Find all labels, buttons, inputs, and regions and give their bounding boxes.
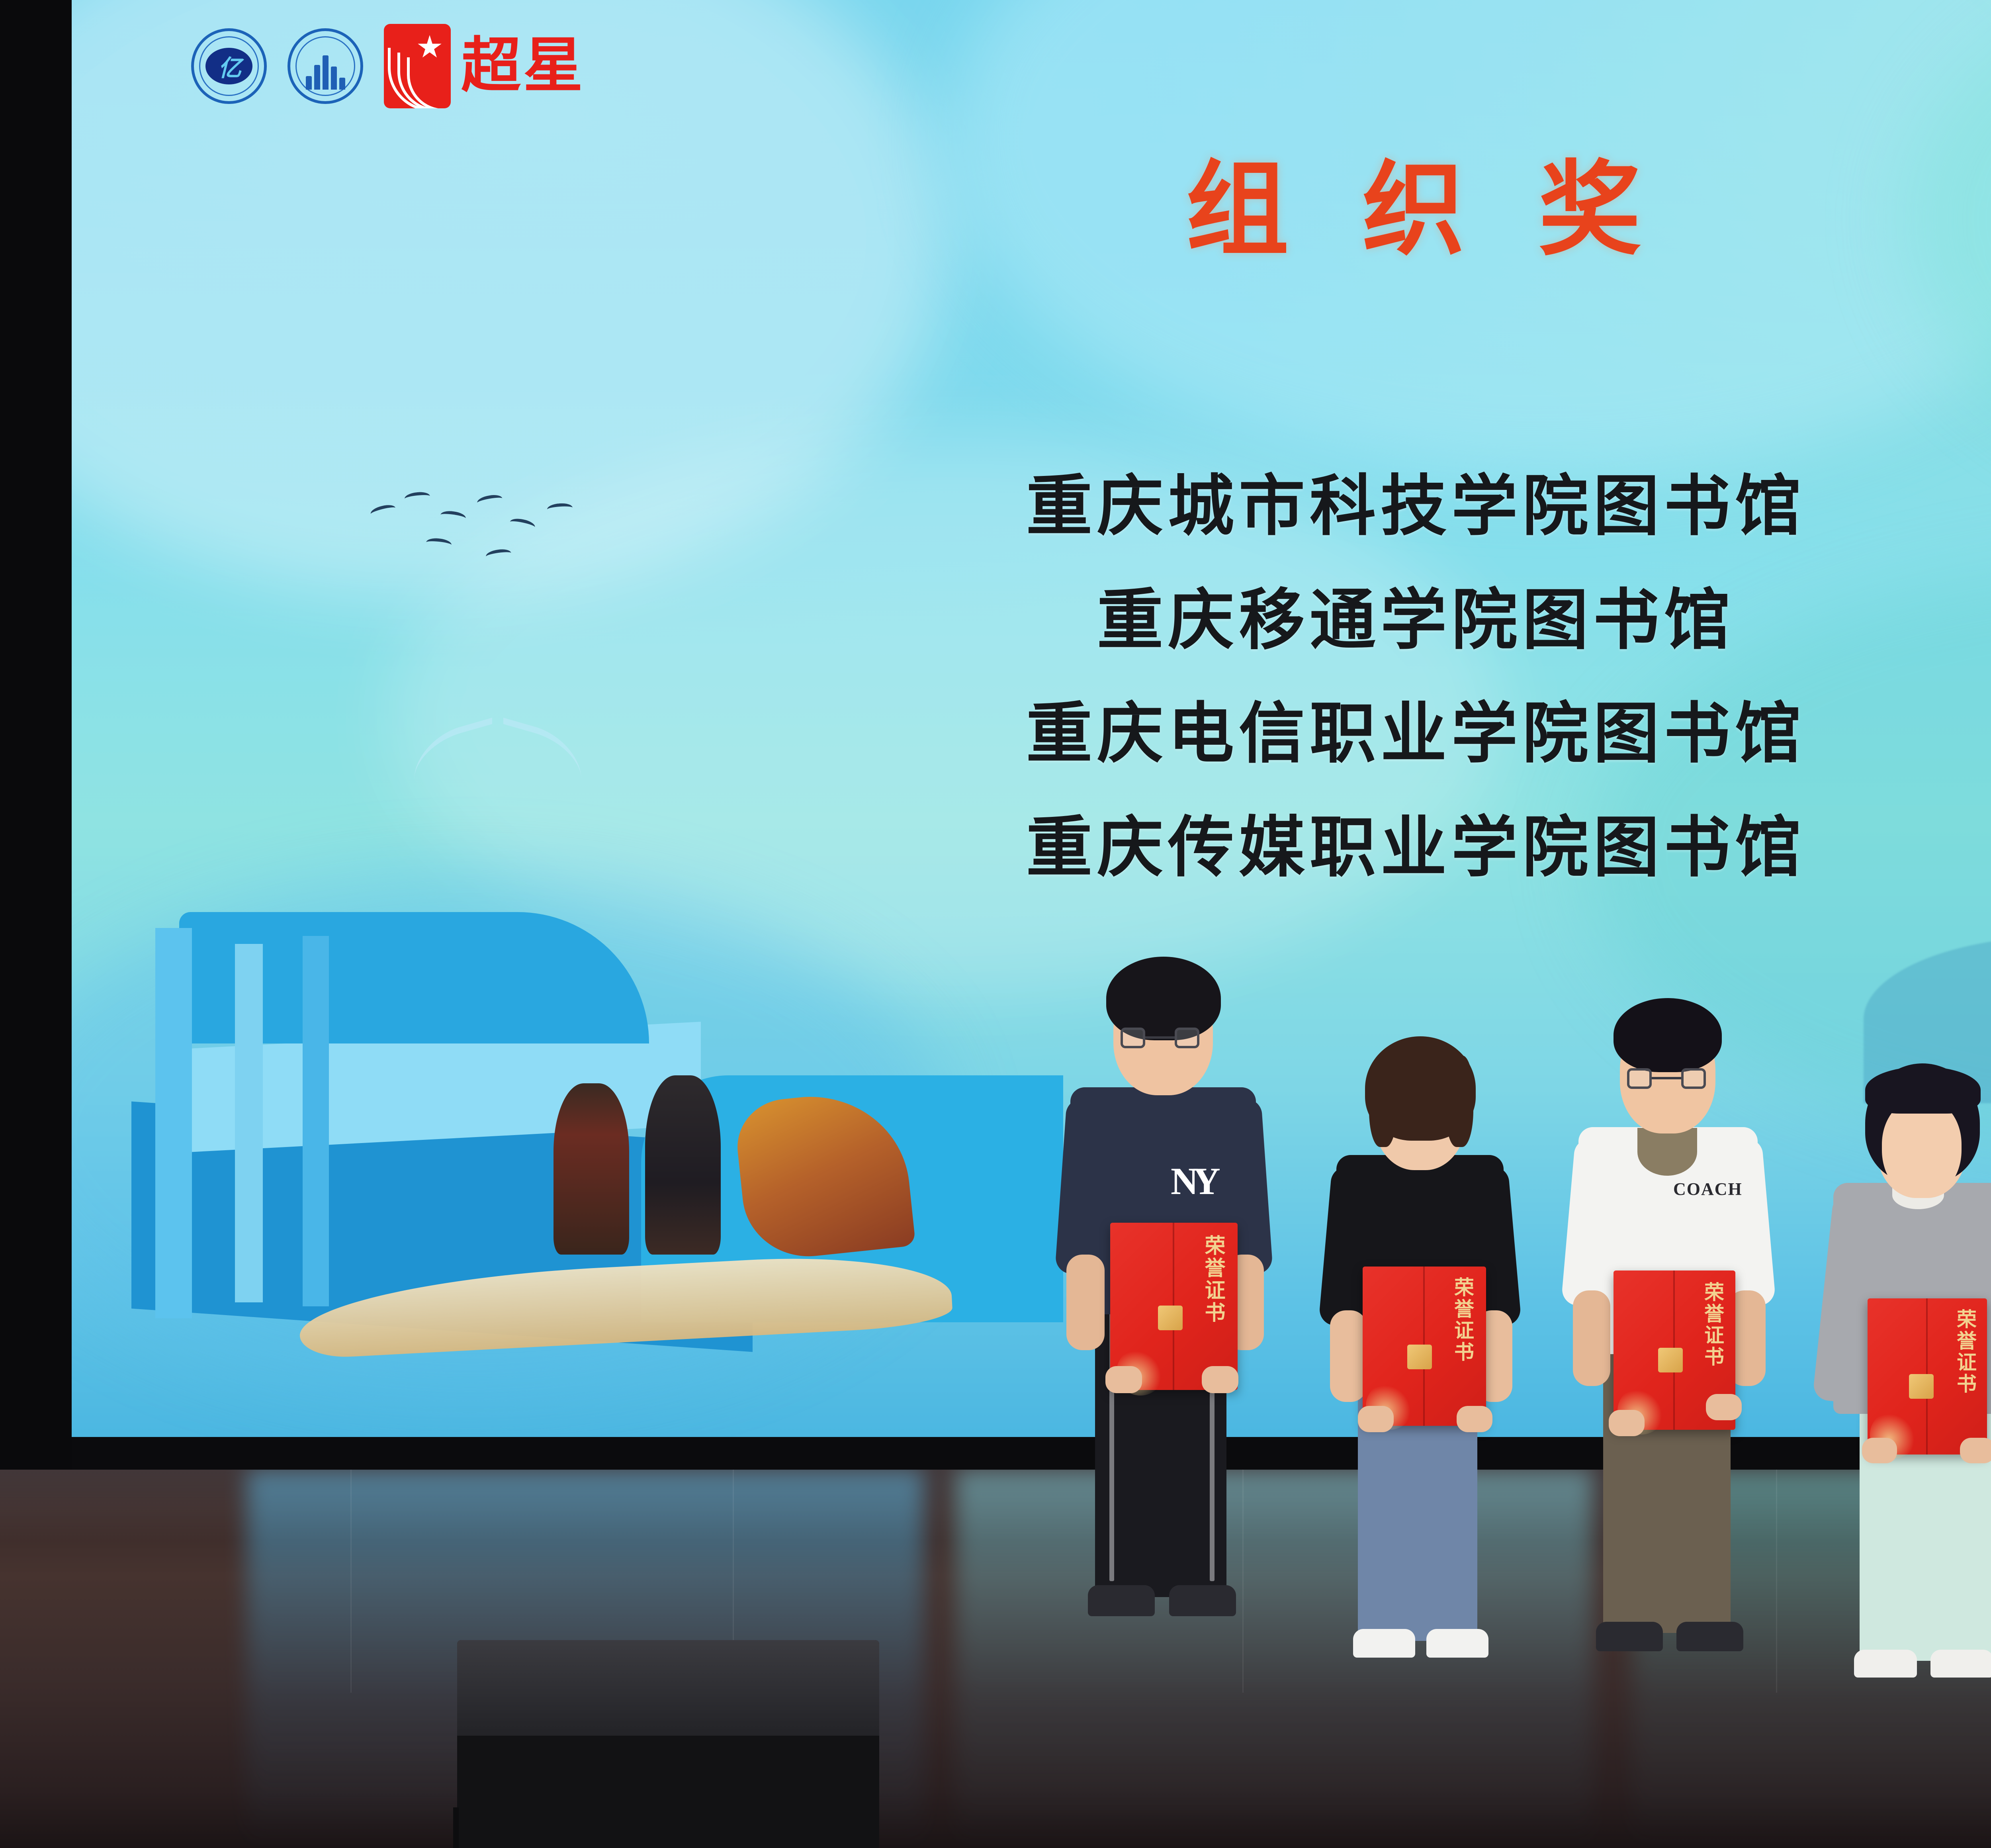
stage-monitor-left: [457, 1640, 879, 1848]
glasses-lens-right: [1681, 1068, 1706, 1089]
shoe: [1854, 1650, 1917, 1678]
ny-logo: NY: [1171, 1159, 1215, 1203]
certificate-title: 荣誉证书: [1202, 1235, 1223, 1324]
certificate-folder: 荣誉证书: [1868, 1298, 1987, 1455]
recipient-1: NY 荣誉证书: [1035, 912, 1314, 1705]
chaoxing-star-icon: [384, 24, 451, 108]
winner-list: 重庆城市科技学院图书馆 重庆移通学院图书馆 重庆电信职业学院图书馆 重庆传媒职业…: [72, 450, 1991, 905]
sponsor-logo-bar: 亿 超星: [191, 24, 585, 108]
certificate-title: 荣誉证书: [1702, 1282, 1723, 1368]
winner-line: 重庆电信职业学院图书馆: [72, 677, 1991, 791]
forearm-left: [1573, 1290, 1610, 1386]
hand-left: [1358, 1406, 1394, 1432]
award-ceremony-photo: 亿 超星: [0, 0, 1991, 1848]
hand-left: [1105, 1366, 1142, 1393]
flying-birds-art: [366, 490, 589, 589]
shoe: [1676, 1622, 1743, 1651]
glasses-lens-left: [1121, 1028, 1145, 1048]
seal-glyph: 亿: [205, 48, 252, 84]
shoe: [1426, 1629, 1488, 1658]
shoe: [1088, 1585, 1155, 1616]
chaoxing-wordmark: 超星: [461, 36, 585, 96]
shoe: [1353, 1629, 1415, 1658]
forearm-left: [1330, 1310, 1367, 1402]
open-book-art: [414, 729, 581, 797]
hair-side: [1369, 1055, 1397, 1147]
certificate-folder: 荣誉证书: [1110, 1223, 1238, 1390]
seal-2-glyph: [301, 43, 349, 90]
hair: [1614, 998, 1722, 1072]
coach-logo: COACH: [1673, 1179, 1743, 1199]
certificate-folder: 荣誉证书: [1363, 1267, 1486, 1426]
recipient-2: 荣誉证书: [1302, 996, 1557, 1709]
glasses-lens-right: [1175, 1028, 1199, 1048]
polo-collar-opening: [1637, 1128, 1697, 1176]
winner-line: 重庆移通学院图书馆: [72, 564, 1991, 678]
winner-line: 重庆城市科技学院图书馆: [72, 450, 1991, 564]
award-title: 组 织 奖: [72, 159, 1991, 262]
shadow-puppet-art: [542, 1032, 940, 1255]
hair-side: [1445, 1055, 1473, 1147]
hand-right: [1706, 1394, 1742, 1420]
university-seal-icon: 亿: [191, 28, 267, 104]
hand-left: [1609, 1410, 1645, 1436]
certificate-title: 荣誉证书: [1452, 1277, 1473, 1363]
chaoxing-logo: 超星: [384, 24, 585, 108]
shoe: [1930, 1650, 1991, 1678]
shoe: [1596, 1622, 1663, 1651]
university-seal-2-icon: [288, 28, 363, 104]
certificate-title: 荣誉证书: [1955, 1309, 1975, 1395]
forearm-left: [1066, 1255, 1105, 1350]
hand-right: [1960, 1438, 1991, 1463]
recipient-3: COACH 荣誉证书: [1545, 956, 1816, 1713]
glasses-bridge: [1652, 1077, 1681, 1079]
hand-right: [1457, 1406, 1492, 1432]
hand-left: [1862, 1438, 1897, 1463]
glasses-bridge: [1145, 1036, 1175, 1039]
shoe: [1169, 1585, 1236, 1616]
bangs: [1865, 1067, 1981, 1114]
hand-right: [1202, 1366, 1238, 1393]
recipient-4: 荣誉证书: [1804, 1024, 1991, 1721]
glasses-lens-left: [1627, 1068, 1652, 1089]
